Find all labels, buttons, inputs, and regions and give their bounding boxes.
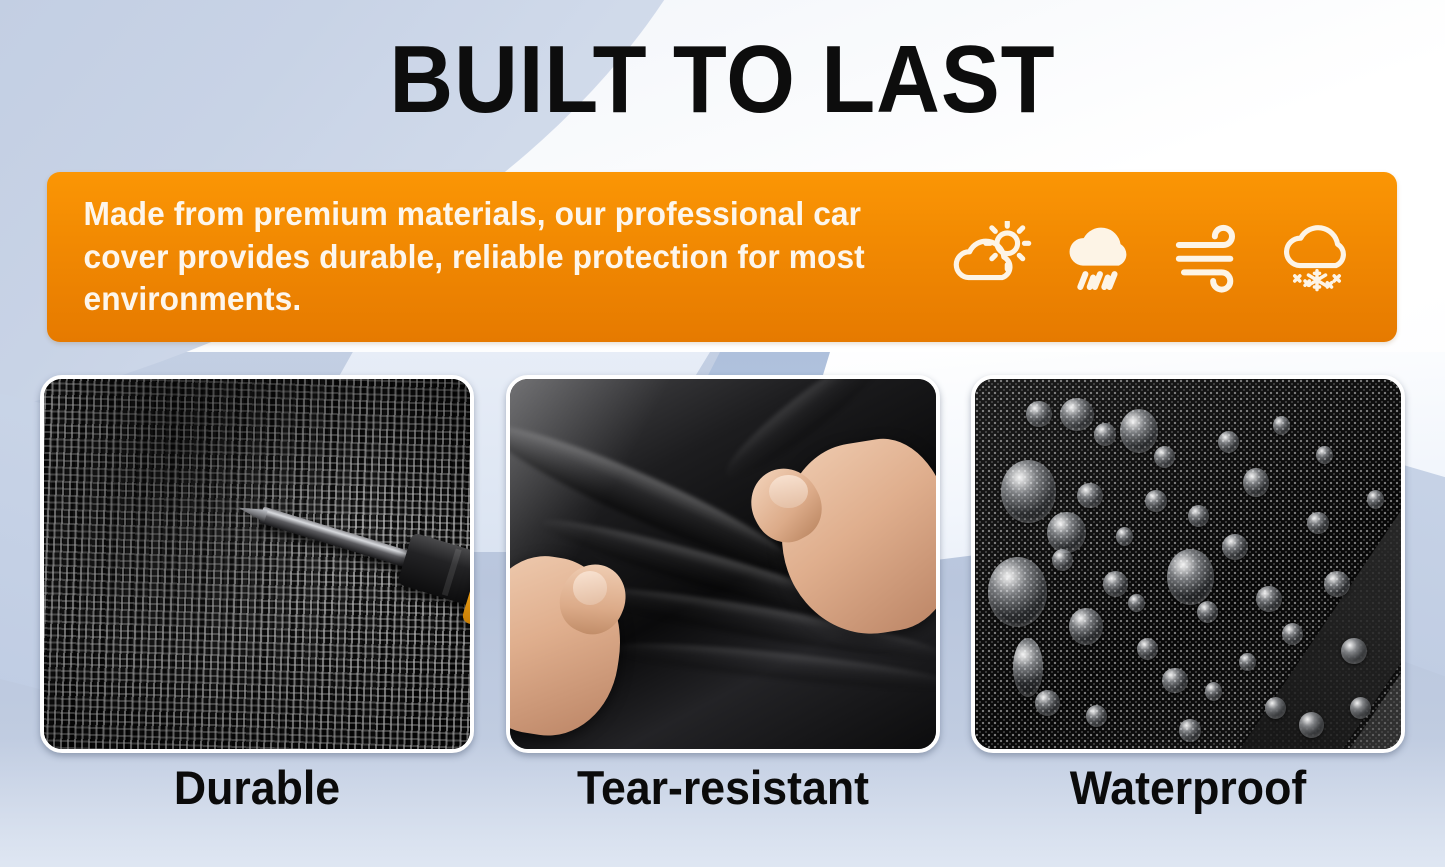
water-droplet [1086, 705, 1107, 727]
water-droplet [1205, 682, 1222, 701]
water-droplet [1035, 690, 1061, 716]
water-droplet [1060, 398, 1094, 431]
feature-panel-group [40, 375, 1405, 753]
water-droplet [1120, 409, 1158, 453]
description-banner: Made from premium materials, our profess… [47, 172, 1397, 342]
water-droplet [1179, 719, 1200, 741]
page-title: BUILT TO LAST [58, 28, 1387, 132]
water-droplet [1273, 416, 1290, 435]
rain-cloud-icon [1057, 221, 1143, 293]
water-droplet [1324, 571, 1350, 597]
screwdriver-shaft [258, 506, 420, 571]
water-droplet [1154, 446, 1175, 468]
water-droplet [1094, 423, 1115, 445]
water-droplet [1367, 490, 1384, 509]
water-droplet [1026, 401, 1052, 427]
water-droplet [1069, 608, 1103, 645]
wind-icon [1165, 221, 1251, 293]
water-droplet [1145, 490, 1166, 512]
feature-panel-tear-resistant [506, 375, 940, 753]
right-thumbnail [769, 475, 807, 508]
feature-panel-durable [40, 375, 474, 753]
feature-panel-waterproof [971, 375, 1405, 753]
water-droplet [1167, 549, 1214, 605]
sun-behind-cloud-icon [948, 221, 1034, 293]
water-droplet [1316, 446, 1333, 465]
water-droplet [1299, 712, 1325, 738]
water-droplet [1001, 460, 1056, 523]
left-thumbnail [573, 571, 607, 604]
water-droplet [1256, 586, 1282, 612]
caption-tear-resistant: Tear-resistant [516, 762, 928, 832]
hands-stretching-fabric-photo [510, 379, 936, 749]
caption-durable: Durable [51, 762, 463, 832]
banner-description-text: Made from premium materials, our profess… [47, 193, 892, 322]
water-droplet [1307, 512, 1328, 534]
caption-group: Durable Tear-resistant Waterproof [40, 762, 1405, 832]
water-droplet [1341, 638, 1367, 664]
infographic-canvas: BUILT TO LAST Made from premium material… [0, 0, 1445, 867]
woven-fabric-screwdriver-photo [44, 379, 470, 749]
water-droplet [1013, 638, 1043, 697]
screwdriver-grip [397, 532, 470, 607]
water-droplet [1222, 534, 1248, 560]
water-droplet [1243, 468, 1269, 498]
water-droplet [1197, 601, 1218, 623]
water-droplet [1077, 483, 1103, 509]
water-beading-fabric-photo [975, 379, 1401, 749]
water-droplet [1218, 431, 1239, 453]
water-droplet [1047, 512, 1085, 553]
caption-waterproof: Waterproof [982, 762, 1394, 832]
water-droplet [988, 557, 1048, 627]
weather-icon-group [927, 221, 1397, 293]
water-droplet [1116, 527, 1133, 546]
snow-cloud-icon [1274, 221, 1360, 293]
